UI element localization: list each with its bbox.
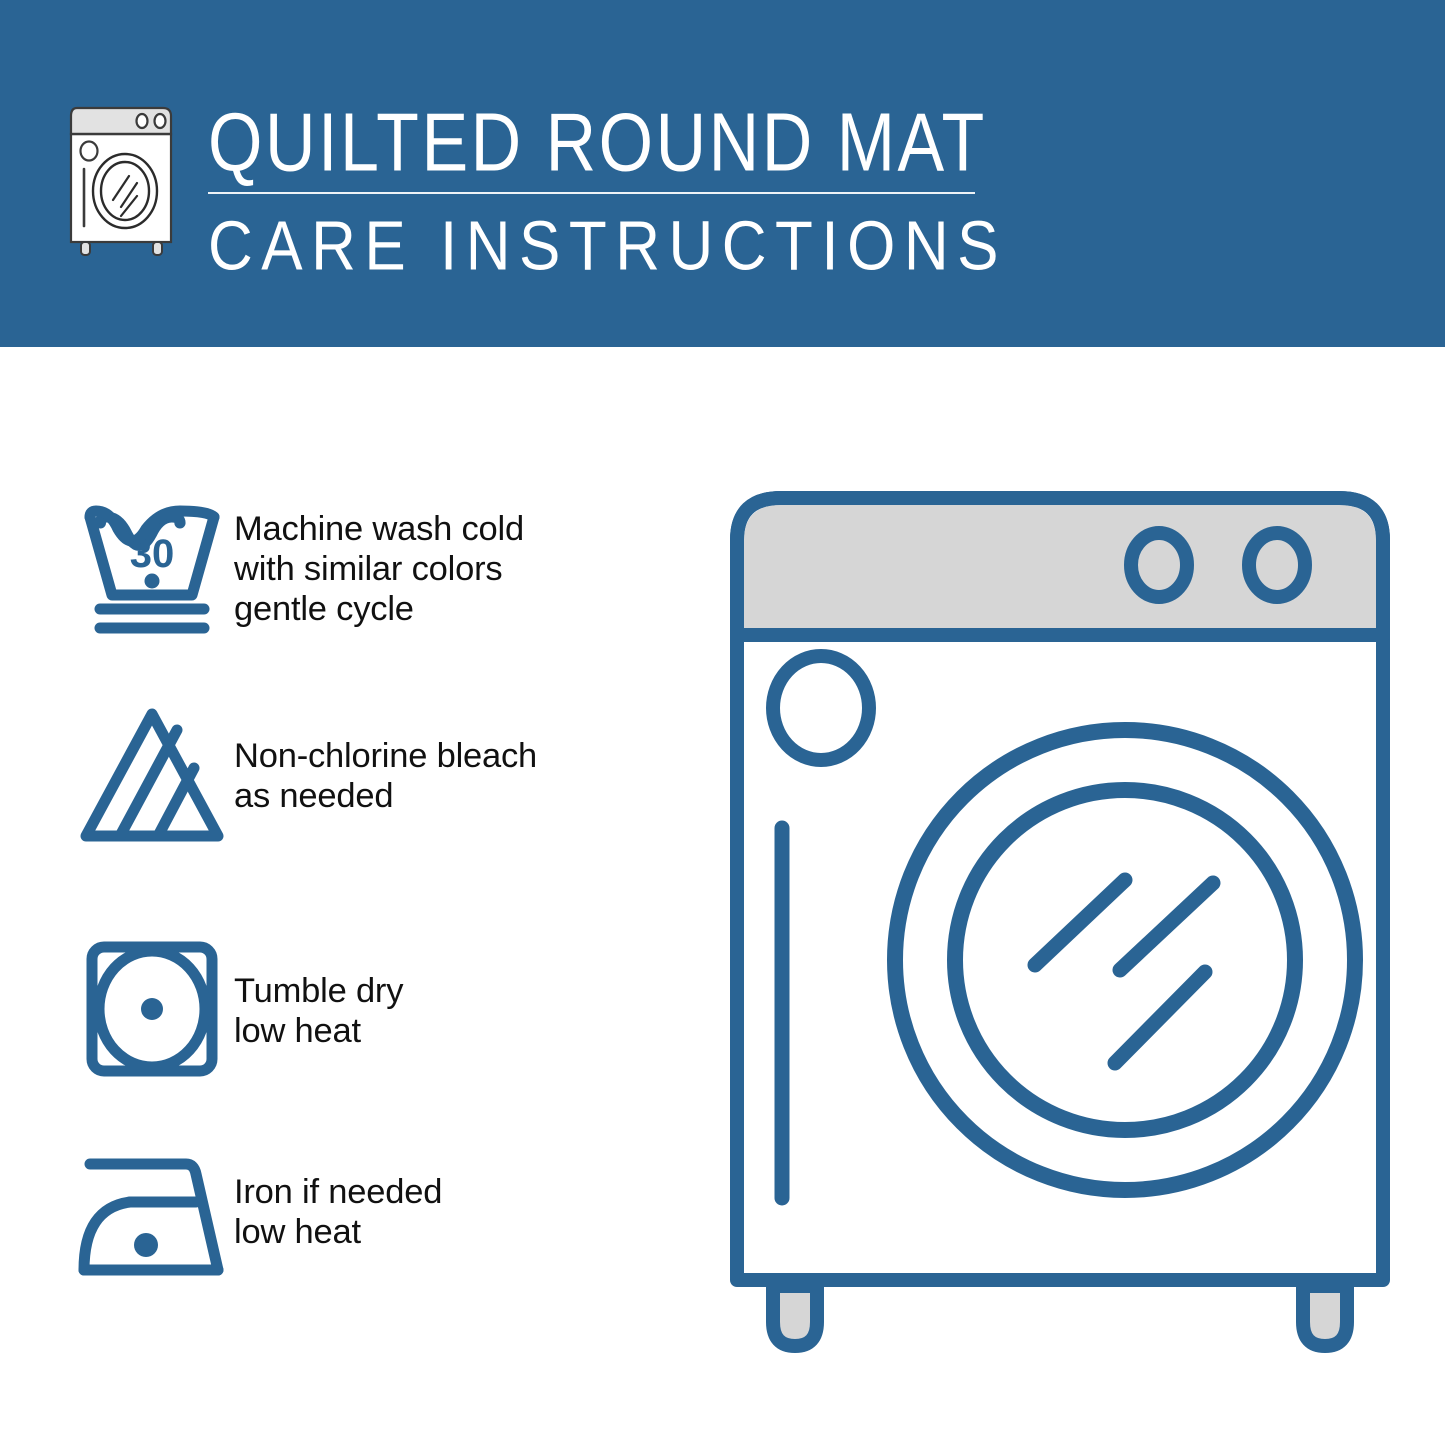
wash-temperature-value: 30 (130, 532, 175, 576)
triangle-non-chlorine-bleach-icon (70, 702, 234, 852)
care-instruction-row-bleach: Non-chlorine bleach as needed (70, 702, 690, 852)
leg-right (1303, 1286, 1347, 1346)
wash-dot-icon (145, 574, 160, 589)
title-divider (208, 192, 975, 194)
knob-right (1249, 533, 1305, 597)
header-banner: QUILTED ROUND MAT CARE INSTRUCTIONS (0, 0, 1445, 347)
care-instruction-label: Iron if needed low heat (234, 1142, 442, 1252)
care-instruction-list: 30 Machine wash cold with similar colors… (0, 347, 700, 1445)
leg-left (773, 1286, 817, 1346)
iron-low-heat-icon (70, 1142, 234, 1292)
care-instruction-label: Machine wash cold with similar colors ge… (234, 495, 524, 629)
wash-tub-30-icon: 30 (70, 495, 234, 645)
page-subtitle: CARE INSTRUCTIONS (208, 208, 998, 286)
knob-left (1131, 533, 1187, 597)
care-instruction-row-tumble-dry: Tumble dry low heat (70, 935, 690, 1085)
care-instruction-row-wash: 30 Machine wash cold with similar colors… (70, 495, 690, 645)
care-instruction-label: Non-chlorine bleach as needed (234, 702, 537, 816)
header-title-block: QUILTED ROUND MAT CARE INSTRUCTIONS (208, 96, 998, 278)
washing-machine-icon (63, 104, 183, 256)
tumble-dry-dot-icon (141, 998, 163, 1020)
care-instructions-graphic: QUILTED ROUND MAT CARE INSTRUCTIONS (0, 0, 1445, 1445)
care-instruction-row-iron: Iron if needed low heat (70, 1142, 690, 1292)
page-title: QUILTED ROUND MAT (208, 96, 998, 188)
front-load-washing-machine-illustration (725, 480, 1395, 1370)
iron-dot-icon (134, 1233, 158, 1257)
tumble-dry-low-heat-icon (70, 935, 234, 1085)
care-instruction-label: Tumble dry low heat (234, 935, 403, 1051)
